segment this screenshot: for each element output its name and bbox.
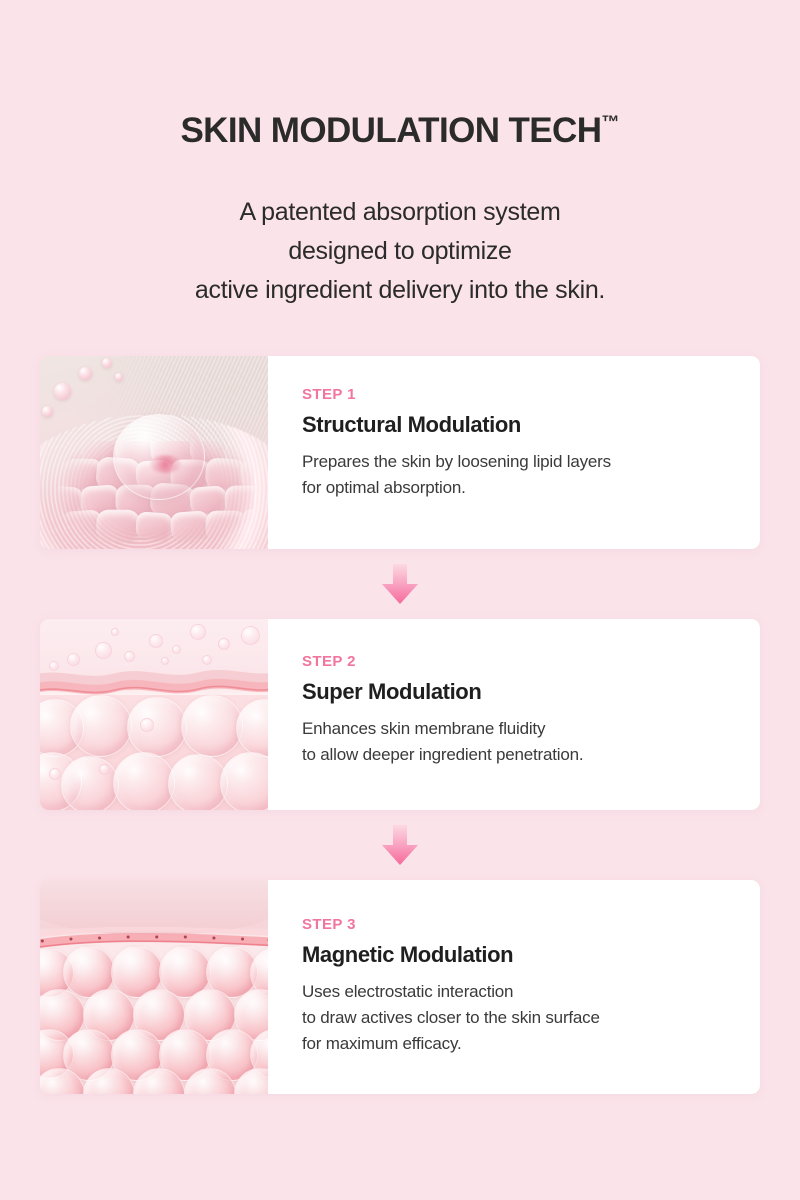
pearl-bead <box>54 383 71 400</box>
small-bubble <box>49 768 61 780</box>
step-1-image <box>40 356 268 549</box>
page-title: SKIN MODULATION TECH™ <box>0 112 800 151</box>
floating-bubble <box>202 655 212 665</box>
step-card-3: STEP 3 Magnetic Modulation Uses electros… <box>40 880 760 1094</box>
step-3-description: Uses electrostatic interaction to draw a… <box>302 979 734 1057</box>
large-bubble <box>168 754 228 809</box>
floating-bubble <box>161 657 169 665</box>
step-3-title: Magnetic Modulation <box>302 942 734 968</box>
step-card-2: STEP 2 Super Modulation Enhances skin me… <box>40 619 760 810</box>
step-3-image <box>40 880 268 1094</box>
dense-bubble-grid-art <box>40 880 268 1094</box>
floating-bubble <box>124 651 135 662</box>
page-title-text: SKIN MODULATION TECH <box>180 111 601 150</box>
large-bubble <box>70 695 132 757</box>
skin-cells-droplet-macro-art <box>40 356 268 549</box>
floating-bubble <box>67 653 80 666</box>
step-2-body: STEP 2 Super Modulation Enhances skin me… <box>268 619 760 810</box>
step-1-label: STEP 1 <box>302 386 734 403</box>
floating-bubble <box>218 638 230 650</box>
floating-bubble <box>95 642 112 659</box>
pearl-bead <box>42 406 53 417</box>
step-3-label: STEP 3 <box>302 916 734 933</box>
step-2-label: STEP 2 <box>302 653 734 670</box>
pearl-bead <box>79 367 92 380</box>
subtitle-line-1: A patented absorption system <box>0 193 800 232</box>
floating-bubble <box>149 634 163 648</box>
step-1-title: Structural Modulation <box>302 412 734 438</box>
large-bubble <box>127 697 187 757</box>
page-subtitle: A patented absorption system designed to… <box>0 193 800 310</box>
step-card-1: STEP 1 Structural Modulation Prepares th… <box>40 356 760 549</box>
page-header: SKIN MODULATION TECH™ A patented absorpt… <box>0 0 800 310</box>
floating-bubble <box>111 628 119 636</box>
skin-cell <box>97 509 140 541</box>
step-1-body: STEP 1 Structural Modulation Prepares th… <box>268 356 760 549</box>
floating-bubble <box>172 645 181 654</box>
connector-arrow-1 <box>40 549 760 619</box>
trademark-symbol: ™ <box>601 112 619 132</box>
subtitle-line-3: active ingredient delivery into the skin… <box>0 271 800 310</box>
skin-cell <box>135 511 173 540</box>
step-3-body: STEP 3 Magnetic Modulation Uses electros… <box>268 880 760 1094</box>
step-2-description: Enhances skin membrane fluidity to allow… <box>302 716 734 768</box>
large-bubble <box>220 752 268 809</box>
large-bubble <box>181 695 243 757</box>
arrow-down-icon <box>380 562 420 606</box>
floating-bubble <box>241 626 260 645</box>
arrow-down-icon <box>380 823 420 867</box>
serum-droplet <box>113 414 205 500</box>
large-bubble <box>113 752 175 809</box>
large-bubble <box>61 756 119 809</box>
skin-membrane-bubbles-art <box>40 619 268 810</box>
step-1-description: Prepares the skin by loosening lipid lay… <box>302 449 734 501</box>
skin-cell <box>170 510 210 541</box>
subtitle-line-2: designed to optimize <box>0 232 800 271</box>
floating-bubble <box>190 624 206 640</box>
step-2-title: Super Modulation <box>302 679 734 705</box>
steps-list: STEP 1 Structural Modulation Prepares th… <box>0 356 800 1094</box>
connector-arrow-2 <box>40 810 760 880</box>
pearl-bead <box>102 358 112 368</box>
step-2-image <box>40 619 268 810</box>
floating-bubble <box>49 661 59 671</box>
